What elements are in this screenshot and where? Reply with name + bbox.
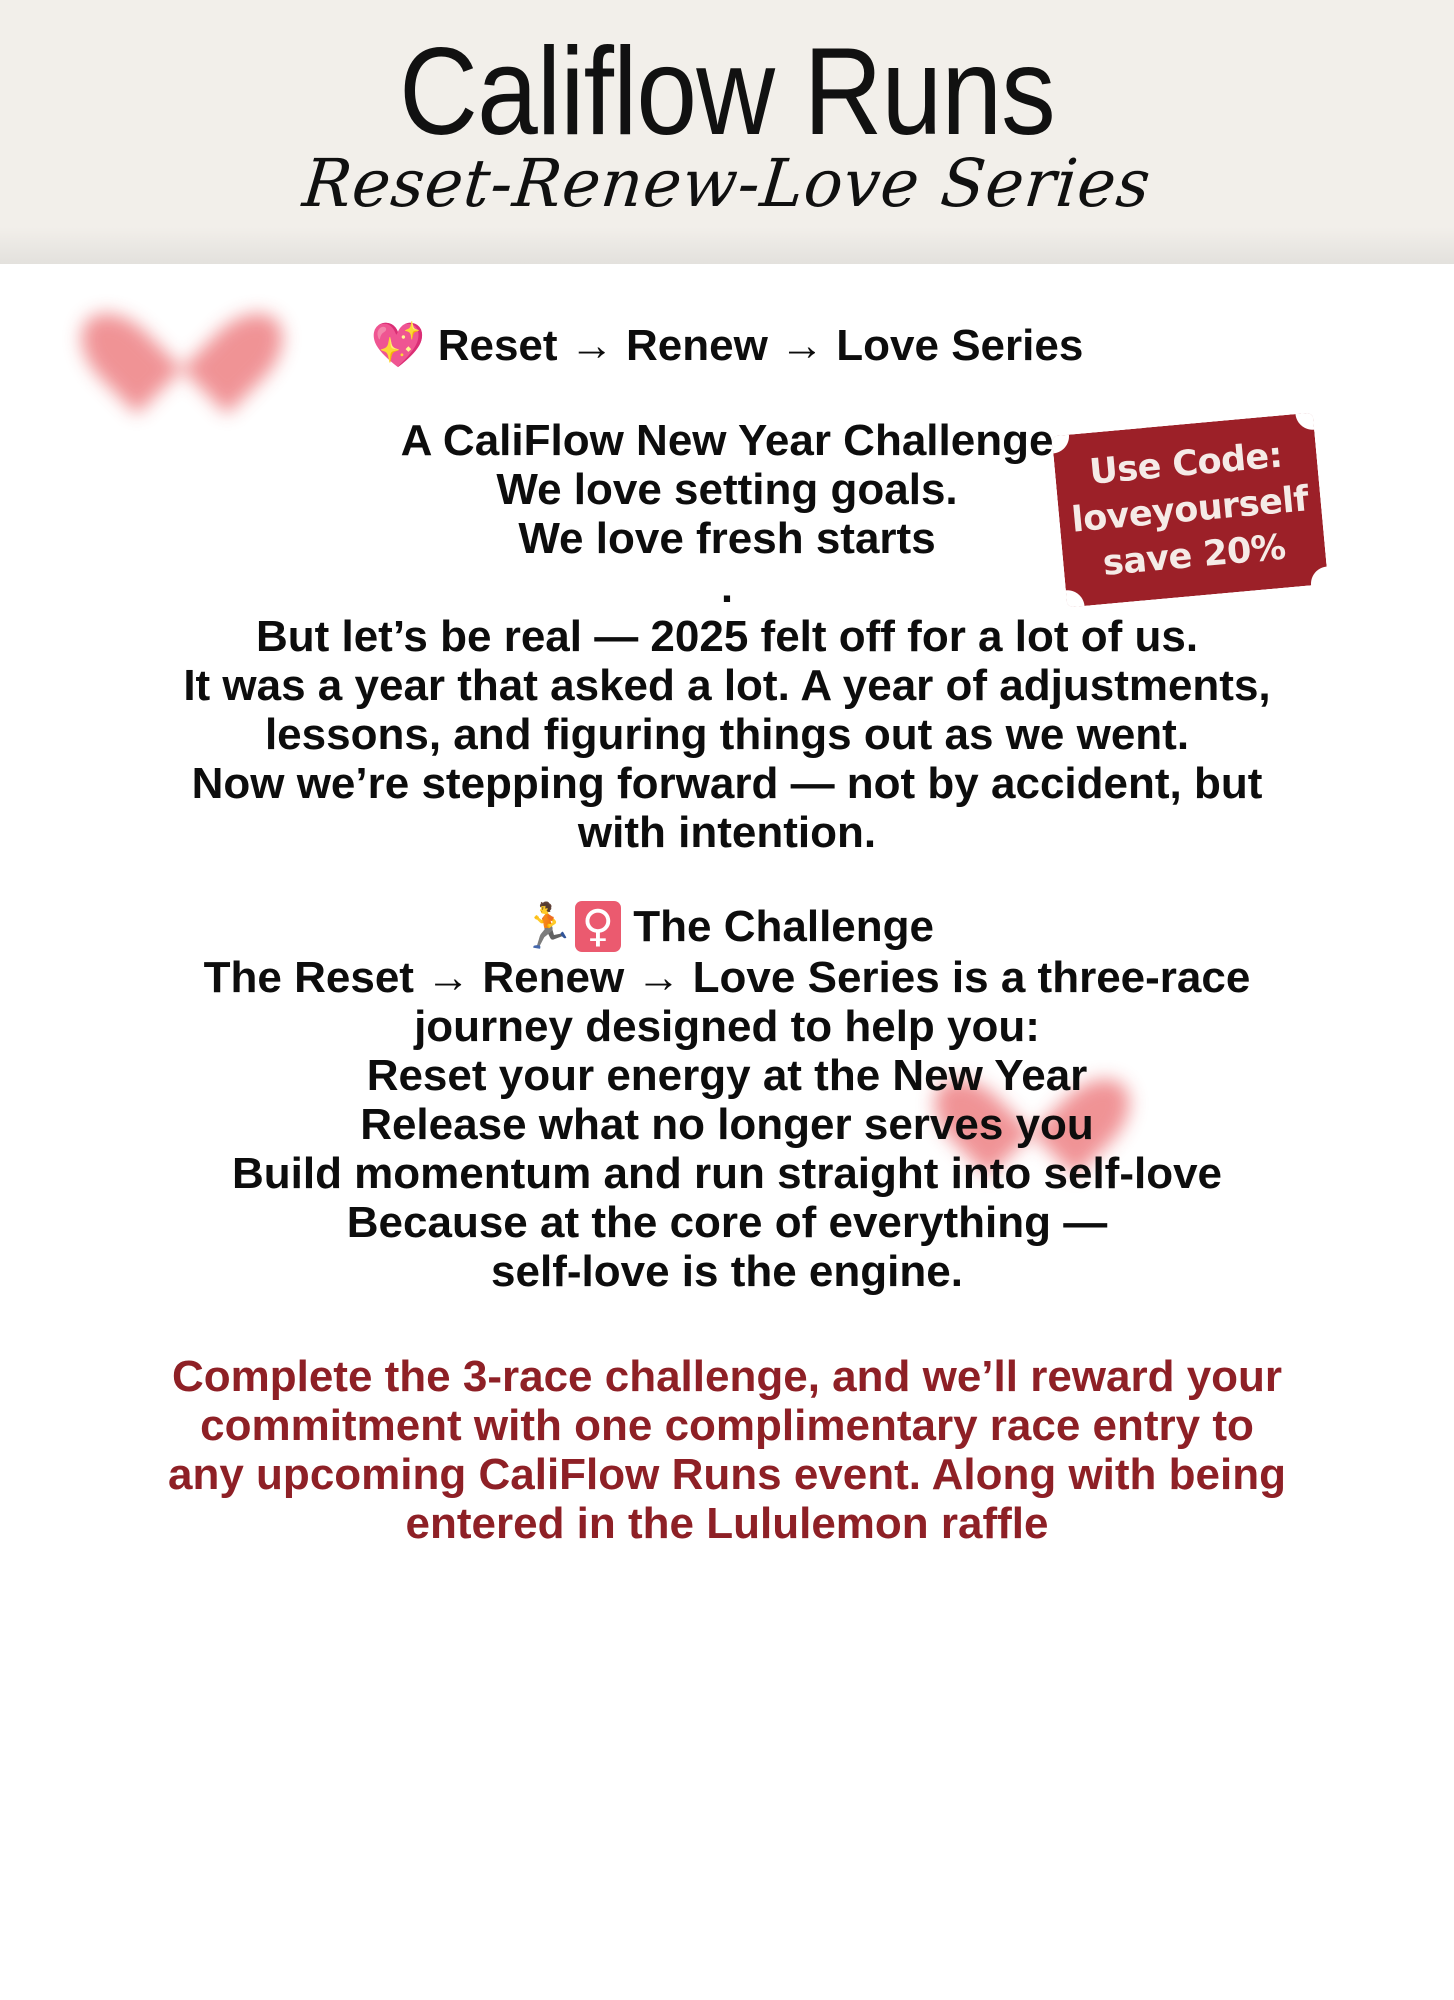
brand-subtitle: Reset-Renew-Love Series — [18, 151, 1435, 217]
reality-line-3: Now we’re stepping forward — not by acci… — [78, 759, 1376, 808]
spacer — [78, 264, 1376, 320]
spacer — [78, 857, 1376, 901]
challenge-line-4: Build momentum and run straight into sel… — [78, 1149, 1376, 1198]
challenge-line-2: Reset your energy at the New Year — [78, 1051, 1376, 1100]
reward-line-0: Complete the 3-race challenge, and we’ll… — [78, 1352, 1376, 1401]
reward-line-1: commitment with one complimentary race e… — [78, 1401, 1376, 1450]
challenge-line-6: self-love is the engine. — [78, 1247, 1376, 1296]
brand-title: Califlow Runs — [87, 0, 1367, 157]
challenge-heading: 🏃♀ The Challenge — [78, 901, 1376, 953]
challenge-line-1: journey designed to help you: — [78, 1002, 1376, 1051]
poster-header: Califlow Runs Reset-Renew-Love Series — [0, 0, 1454, 264]
challenge-line-0: The Reset → Renew → Love Series is a thr… — [78, 953, 1376, 1002]
reality-line-4: with intention. — [78, 808, 1376, 857]
challenge-line-5: Because at the core of everything — — [78, 1198, 1376, 1247]
female-sign-icon: ♀ — [575, 901, 621, 952]
reality-line-2: lessons, and figuring things out as we w… — [78, 710, 1376, 759]
sparkling-heart-icon: 💖 — [371, 320, 426, 371]
poster-canvas: Califlow Runs Reset-Renew-Love Series Us… — [0, 0, 1454, 2000]
coupon-badge-text: Use Code: loveyourself save 20% — [1052, 412, 1327, 590]
spacer — [78, 1296, 1376, 1352]
reality-line-0: But let’s be real — 2025 felt off for a … — [78, 612, 1376, 661]
reward-line-2: any upcoming CaliFlow Runs event. Along … — [78, 1450, 1376, 1499]
challenge-heading-label: The Challenge — [633, 902, 934, 951]
coupon-code-badge[interactable]: Use Code: loveyourself save 20% — [1052, 412, 1329, 607]
spacer — [78, 372, 1376, 416]
series-heading: 💖 Reset → Renew → Love Series — [78, 320, 1376, 372]
series-heading-label: Reset → Renew → Love Series — [438, 321, 1084, 370]
challenge-line-3: Release what no longer serves you — [78, 1100, 1376, 1149]
runner-icon: 🏃 — [520, 901, 575, 952]
reward-line-3: entered in the Lululemon raffle — [78, 1499, 1376, 1548]
reality-line-1: It was a year that asked a lot. A year o… — [78, 661, 1376, 710]
